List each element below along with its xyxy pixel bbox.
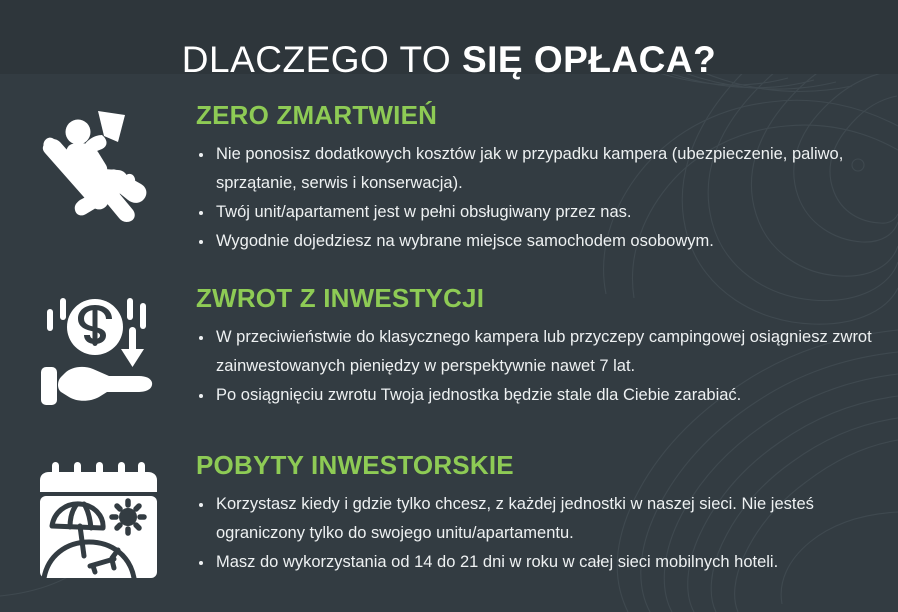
beach-calendar-icon [34, 460, 162, 584]
benefit-section-zwrot-z-inwestycji: ZWROT Z INWESTYCJI W przeciwieństwie do … [0, 283, 898, 410]
hand-catching-money-icon [35, 289, 161, 405]
benefit-section-pobyty-inwestorskie: POBYTY INWESTORSKIE Korzystasz kiedy i g… [0, 450, 898, 584]
text-column: ZERO ZMARTWIEŃ Nie ponosisz dodatkowych … [196, 100, 898, 256]
poster-root: DLACZEGO TO SIĘ OPŁACA? [0, 0, 898, 612]
list-item: Wygodnie dojedziesz na wybrane miejsce s… [196, 227, 876, 256]
page-title-bold: SIĘ OPŁACA? [462, 39, 716, 80]
icon-column [0, 450, 196, 584]
page-title: DLACZEGO TO SIĘ OPŁACA? [0, 37, 898, 83]
benefit-section-zero-zmartwien: ZERO ZMARTWIEŃ Nie ponosisz dodatkowych … [0, 100, 898, 256]
benefit-list: W przeciwieństwie do klasycznego kampera… [196, 323, 878, 410]
benefit-list: Nie ponosisz dodatkowych kosztów jak w p… [196, 140, 878, 256]
list-item: Twój unit/apartament jest w pełni obsług… [196, 198, 876, 227]
icon-column [0, 100, 196, 226]
text-column: ZWROT Z INWESTYCJI W przeciwieństwie do … [196, 283, 898, 410]
list-item: W przeciwieństwie do klasycznego kampera… [196, 323, 878, 381]
icon-column [0, 283, 196, 405]
list-item: Korzystasz kiedy i gdzie tylko chcesz, z… [196, 490, 878, 548]
beach-chair-relax-icon [32, 108, 164, 226]
benefit-list: Korzystasz kiedy i gdzie tylko chcesz, z… [196, 490, 878, 577]
list-item: Nie ponosisz dodatkowych kosztów jak w p… [196, 140, 876, 198]
text-column: POBYTY INWESTORSKIE Korzystasz kiedy i g… [196, 450, 898, 577]
section-heading: ZWROT Z INWESTYCJI [196, 283, 878, 313]
section-heading: POBYTY INWESTORSKIE [196, 450, 878, 480]
list-item: Po osiągnięciu zwrotu Twoja jednostka bę… [196, 381, 878, 410]
list-item: Masz do wykorzystania od 14 do 21 dni w … [196, 548, 878, 577]
page-title-thin: DLACZEGO TO [182, 39, 462, 80]
section-heading: ZERO ZMARTWIEŃ [196, 100, 878, 130]
